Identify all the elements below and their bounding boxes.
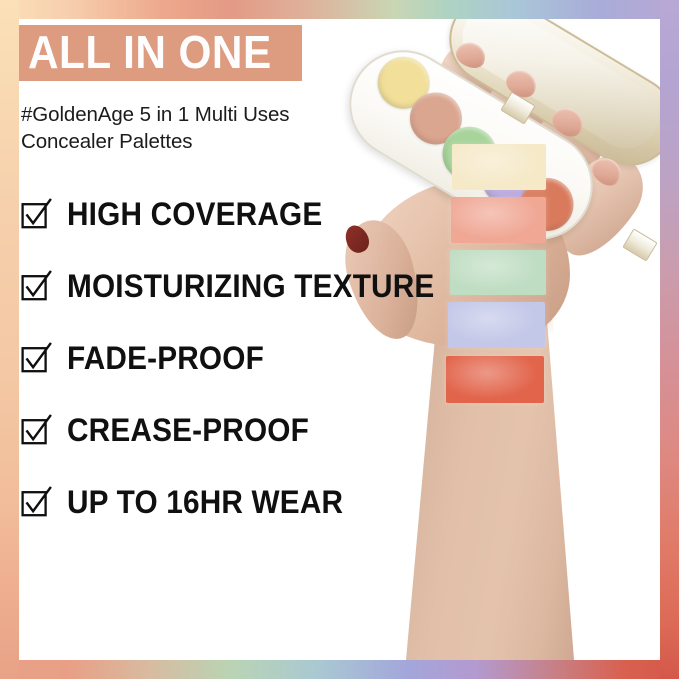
feature-row: MOISTURIZING TEXTURE xyxy=(21,263,481,309)
checkbox-checked-icon xyxy=(21,199,51,229)
palette-hinge-right xyxy=(622,228,657,261)
feature-row: UP TO 16HR WEAR xyxy=(21,479,481,525)
feature-label: MOISTURIZING TEXTURE xyxy=(67,269,434,303)
swatch-yellow xyxy=(452,144,546,190)
product-subtitle: #GoldenAge 5 in 1 Multi Uses Concealer P… xyxy=(21,101,381,155)
headline-text: ALL IN ONE xyxy=(28,28,272,76)
feature-label: CREASE-PROOF xyxy=(67,413,309,447)
feature-checklist: HIGH COVERAGEMOISTURIZING TEXTUREFADE-PR… xyxy=(21,191,481,551)
feature-label: HIGH COVERAGE xyxy=(67,197,322,231)
feature-row: CREASE-PROOF xyxy=(21,407,481,453)
feature-label: FADE-PROOF xyxy=(67,341,264,375)
checkbox-checked-icon xyxy=(21,343,51,373)
checkbox-checked-icon xyxy=(21,415,51,445)
checkbox-checked-icon xyxy=(21,271,51,301)
frame-bottom-gradient xyxy=(0,660,679,679)
checkbox-checked-icon xyxy=(21,487,51,517)
feature-row: FADE-PROOF xyxy=(21,335,481,381)
frame-right-gradient xyxy=(660,0,679,679)
feature-label: UP TO 16HR WEAR xyxy=(67,485,343,519)
feature-row: HIGH COVERAGE xyxy=(21,191,481,237)
product-infographic: ALL IN ONE #GoldenAge 5 in 1 Multi Uses … xyxy=(0,0,679,679)
frame-left-gradient xyxy=(0,0,19,679)
frame-top-gradient xyxy=(0,0,679,19)
content-canvas: ALL IN ONE #GoldenAge 5 in 1 Multi Uses … xyxy=(19,19,660,660)
headline-banner: ALL IN ONE xyxy=(19,25,302,81)
